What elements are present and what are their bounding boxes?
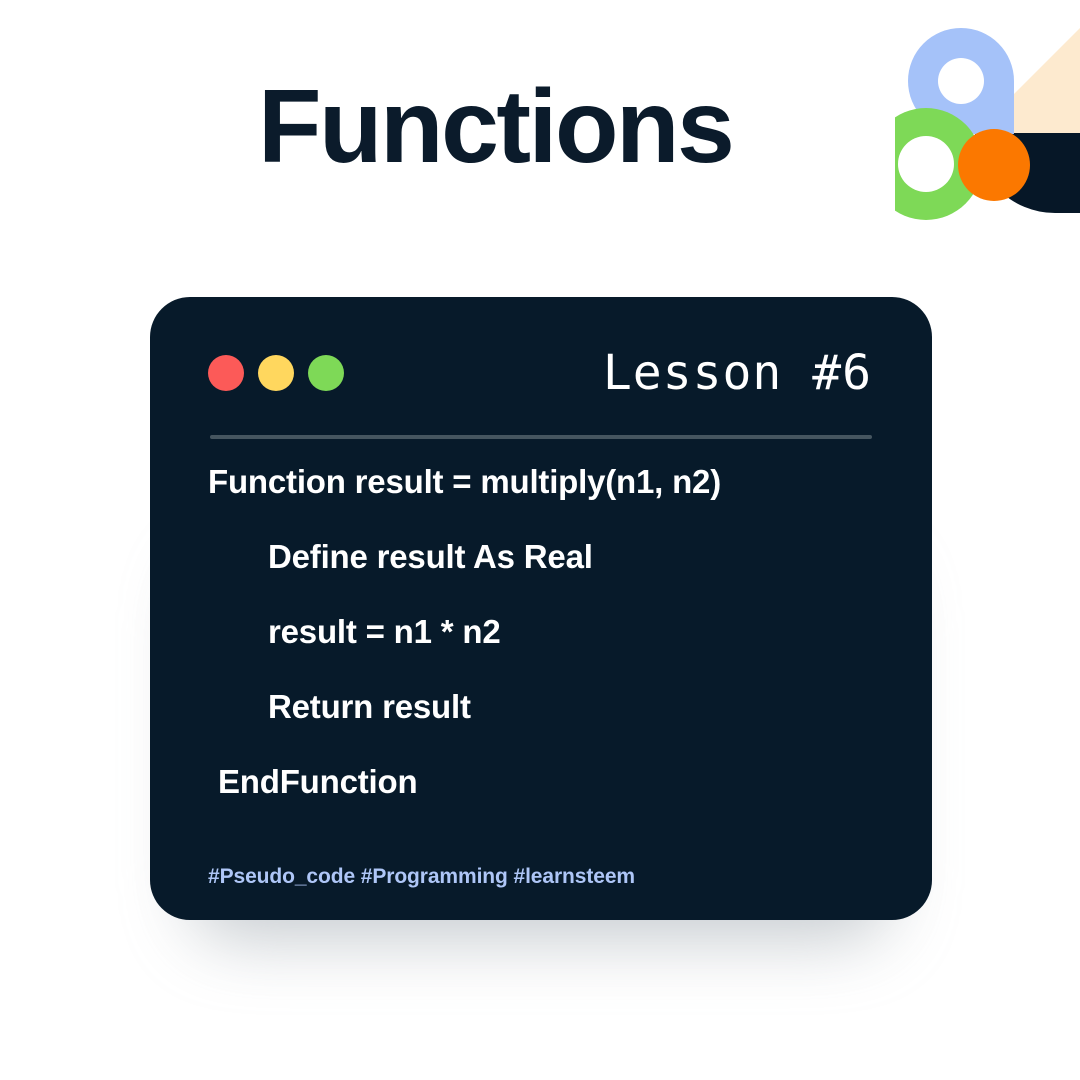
code-card: Lesson #6 Function result = multiply(n1,… [150, 297, 932, 920]
code-card-titlebar: Lesson #6 [150, 297, 932, 437]
page-title: Functions [258, 75, 732, 179]
maximize-dot-icon[interactable] [308, 355, 344, 391]
close-dot-icon[interactable] [208, 355, 244, 391]
brand-logo [895, 0, 1080, 250]
code-block: Function result = multiply(n1, n2) Defin… [150, 465, 932, 840]
orange-dot-icon [958, 129, 1030, 201]
code-line: Function result = multiply(n1, n2) [208, 465, 932, 498]
window-controls [208, 355, 344, 391]
code-line: Return result [268, 690, 932, 723]
code-line: EndFunction [218, 765, 932, 798]
hashtags: #Pseudo_code #Programming #learnsteem [208, 865, 635, 889]
lesson-label: Lesson #6 [603, 345, 872, 401]
code-line: Define result As Real [268, 540, 932, 573]
code-line: result = n1 * n2 [268, 615, 932, 648]
titlebar-divider [210, 435, 872, 439]
minimize-dot-icon[interactable] [258, 355, 294, 391]
